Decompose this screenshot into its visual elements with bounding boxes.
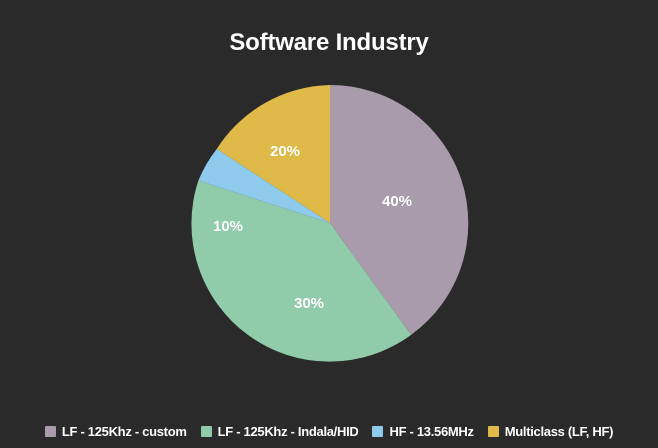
pie-plot-area: 40%30%10%20% bbox=[0, 0, 658, 400]
legend-item-label: HF - 13.56MHz bbox=[389, 424, 473, 439]
legend-item-label: LF - 125Khz - custom bbox=[62, 424, 187, 439]
legend-item-label: Multiclass (LF, HF) bbox=[505, 424, 613, 439]
legend-item[interactable]: HF - 13.56MHz bbox=[372, 424, 473, 439]
legend-item[interactable]: Multiclass (LF, HF) bbox=[488, 424, 613, 439]
pie-slice-value-label: 30% bbox=[294, 295, 324, 312]
pie-slice-value-label: 40% bbox=[382, 193, 412, 210]
pie-slice-value-label: 20% bbox=[270, 143, 300, 160]
pie-chart-figure: Software Industry 40%30%10%20% LF - 125K… bbox=[0, 0, 658, 448]
legend-color-swatch-icon bbox=[201, 426, 212, 437]
legend-item-label: LF - 125Khz - Indala/HID bbox=[218, 424, 359, 439]
pie-svg: 40%30%10%20% bbox=[0, 0, 658, 400]
legend-color-swatch-icon bbox=[488, 426, 499, 437]
legend-item[interactable]: LF - 125Khz - Indala/HID bbox=[201, 424, 359, 439]
legend-color-swatch-icon bbox=[372, 426, 383, 437]
legend-item[interactable]: LF - 125Khz - custom bbox=[45, 424, 187, 439]
chart-legend: LF - 125Khz - customLF - 125Khz - Indala… bbox=[0, 424, 658, 439]
legend-color-swatch-icon bbox=[45, 426, 56, 437]
pie-slice-value-label: 10% bbox=[213, 218, 243, 235]
